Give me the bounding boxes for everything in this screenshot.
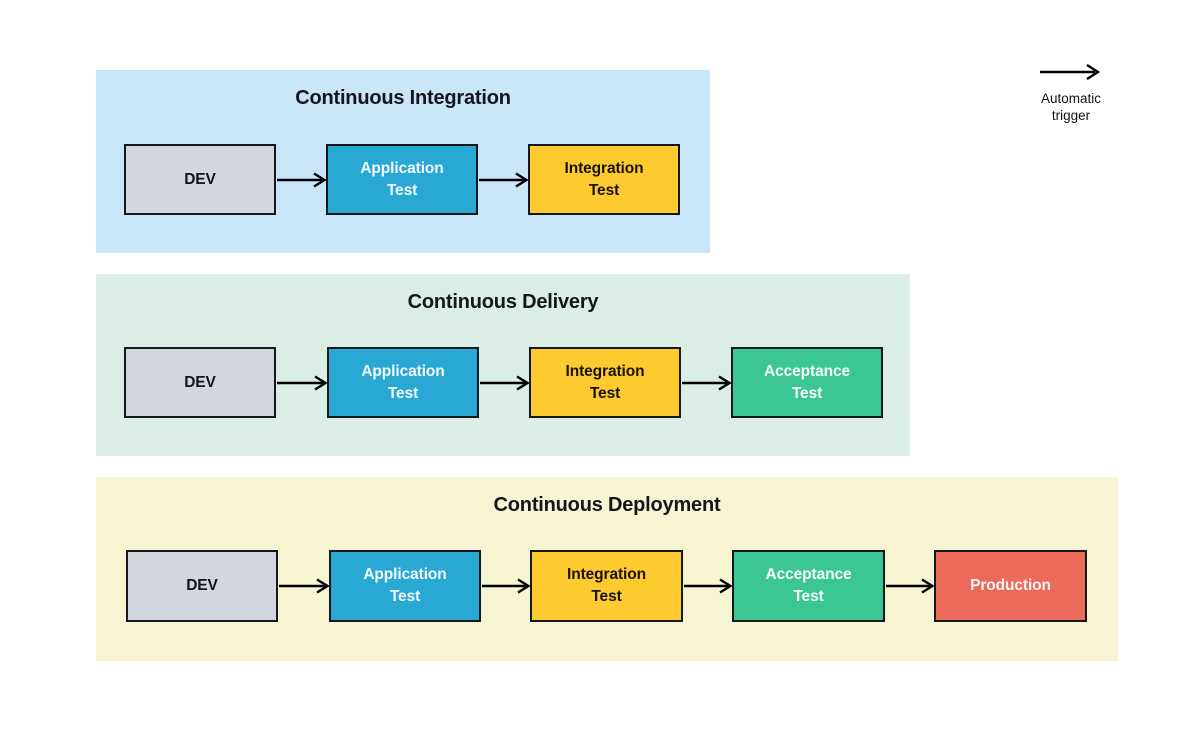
arrow-integration-test-to-acceptance-test	[682, 372, 730, 394]
node-label: Integration Test	[566, 361, 645, 405]
node-label: Application Test	[363, 564, 446, 608]
node-continuous-deployment-production: Production	[934, 550, 1087, 622]
node-label: Integration Test	[565, 158, 644, 202]
node-label: Application Test	[361, 361, 444, 405]
node-label: Acceptance Test	[764, 361, 850, 405]
arrow-application-test-to-integration-test	[482, 575, 529, 597]
arrow-dev-to-application-test	[277, 372, 326, 394]
band-title-continuous-integration: Continuous Integration	[96, 87, 710, 110]
node-continuous-deployment-application-test: Application Test	[329, 550, 481, 622]
node-label: Acceptance Test	[765, 564, 851, 608]
node-label: Application Test	[360, 158, 443, 202]
node-continuous-delivery-dev: DEV	[124, 347, 276, 418]
band-title-continuous-deployment: Continuous Deployment	[96, 494, 1118, 517]
node-continuous-integration-dev: DEV	[124, 144, 276, 215]
arrow-dev-to-application-test	[277, 169, 325, 191]
arrow-application-test-to-integration-test	[479, 169, 527, 191]
node-label: DEV	[186, 575, 218, 597]
band-title-continuous-delivery: Continuous Delivery	[96, 291, 910, 314]
node-label: DEV	[184, 372, 216, 394]
node-continuous-deployment-acceptance-test: Acceptance Test	[732, 550, 885, 622]
node-label: DEV	[184, 169, 216, 191]
node-continuous-delivery-acceptance-test: Acceptance Test	[731, 347, 883, 418]
legend-caption: Automatic trigger	[1012, 90, 1130, 125]
node-continuous-delivery-application-test: Application Test	[327, 347, 479, 418]
arrow-integration-test-to-acceptance-test	[684, 575, 731, 597]
legend: Automatic trigger	[1012, 62, 1130, 125]
node-continuous-delivery-integration-test: Integration Test	[529, 347, 681, 418]
node-continuous-integration-integration-test: Integration Test	[528, 144, 680, 215]
node-label: Integration Test	[567, 564, 646, 608]
arrow-acceptance-test-to-production	[886, 575, 933, 597]
arrow-right-icon	[1040, 62, 1102, 82]
node-continuous-deployment-integration-test: Integration Test	[530, 550, 683, 622]
node-continuous-integration-application-test: Application Test	[326, 144, 478, 215]
node-continuous-deployment-dev: DEV	[126, 550, 278, 622]
arrow-dev-to-application-test	[279, 575, 328, 597]
node-label: Production	[970, 575, 1051, 597]
arrow-application-test-to-integration-test	[480, 372, 528, 394]
